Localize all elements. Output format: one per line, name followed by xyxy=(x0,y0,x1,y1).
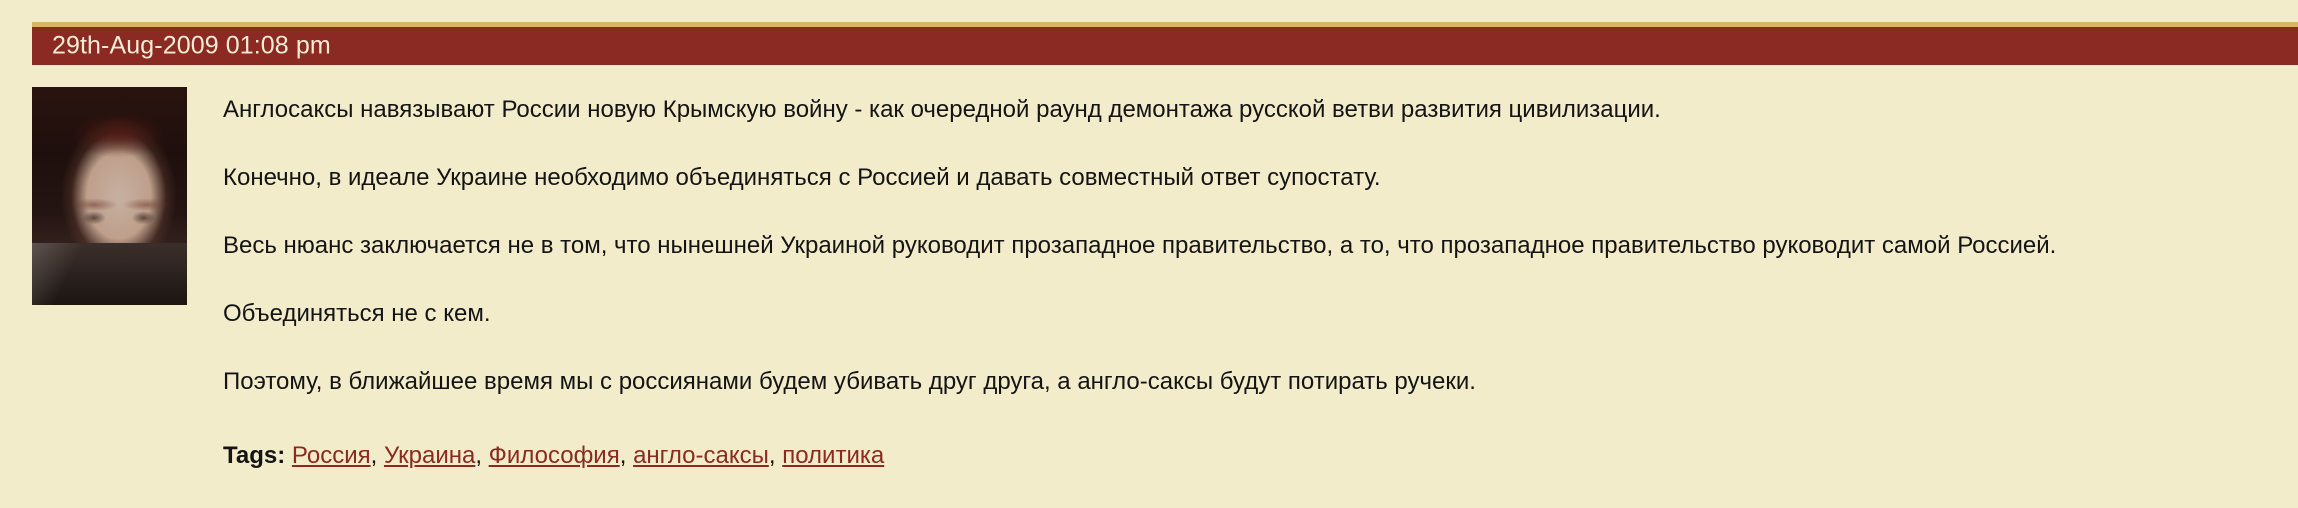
tags-label: Tags: xyxy=(223,442,285,469)
tags-row: Tags: Россия, Украина, Философия, англо-… xyxy=(223,441,884,471)
tag-link[interactable]: Философия xyxy=(489,442,620,469)
post-paragraph: Весь нюанс заключается не в том, что нын… xyxy=(223,231,2278,261)
post-paragraph: Объединяться не с кем. xyxy=(223,299,2278,329)
post-paragraph: Поэтому, в ближайшее время мы с россияна… xyxy=(223,367,2278,397)
tag-link[interactable]: англо-саксы xyxy=(633,442,769,469)
tag-separator: , xyxy=(475,442,488,469)
avatar-collar-detail xyxy=(32,243,187,305)
avatar[interactable] xyxy=(32,87,187,305)
tag-separator: , xyxy=(620,442,633,469)
tag-separator: , xyxy=(769,442,782,469)
post-paragraph: Конечно, в идеале Украине необходимо объ… xyxy=(223,163,2278,193)
post-body-text: Англосаксы навязывают России новую Крымс… xyxy=(223,95,2278,397)
blog-post-entry: 29th-Aug-2009 01:08 pm Англосаксы навязы… xyxy=(0,0,2298,508)
tag-link[interactable]: политика xyxy=(782,442,884,469)
tag-separator: , xyxy=(371,442,384,469)
tag-link[interactable]: Украина xyxy=(384,442,475,469)
post-paragraph: Англосаксы навязывают России новую Крымс… xyxy=(223,95,2278,125)
tag-link[interactable]: Россия xyxy=(292,442,371,469)
post-date-timestamp: 29th-Aug-2009 01:08 pm xyxy=(52,34,331,59)
tags-link-list: Россия, Украина, Философия, англо-саксы,… xyxy=(292,442,884,469)
post-header-bar: 29th-Aug-2009 01:08 pm xyxy=(32,22,2298,65)
